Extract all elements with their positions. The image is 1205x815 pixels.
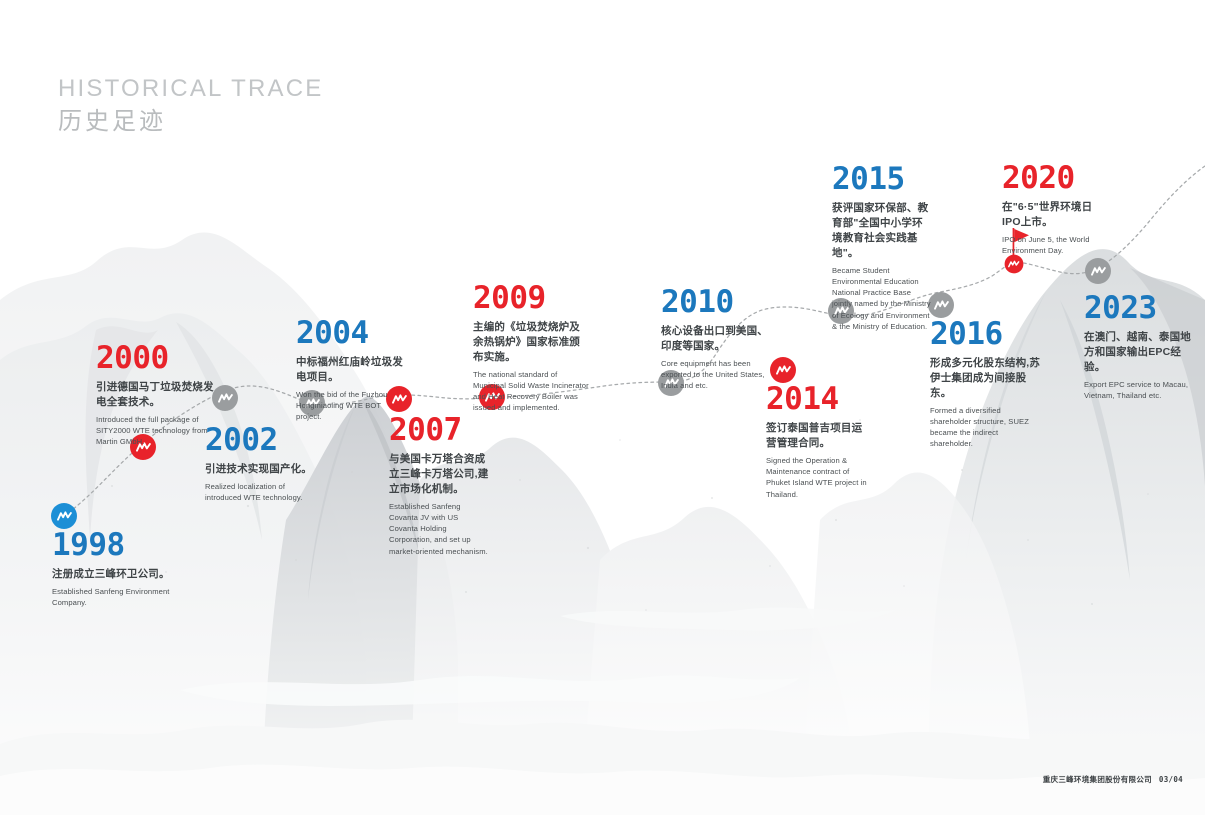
entry-desc-cn: 在"6·5"世界环境日IPO上市。 [1002, 200, 1102, 230]
entry-desc-en: The national standard of Municipal Solid… [473, 369, 589, 414]
entry-year: 2015 [832, 164, 932, 195]
entry-desc-en: Introduced the full package of SITY2000 … [96, 414, 214, 448]
entry-desc-cn: 核心设备出口到美国、印度等国家。 [661, 324, 769, 354]
timeline-entry-2002[interactable]: 2002 引进技术实现国产化。 Realized localization of… [205, 425, 323, 503]
page-footer: 重庆三峰环境集团股份有限公司 03/04 [1043, 774, 1183, 785]
entry-desc-cn: 与美国卡万塔合资成立三峰卡万塔公司,建立市场化机制。 [389, 452, 489, 497]
entry-year: 2014 [766, 384, 870, 415]
timeline-entry-2016[interactable]: 2016 形成多元化股东结构,苏伊士集团成为间接股东。 Formed a div… [930, 319, 1042, 450]
entry-year: 2020 [1002, 163, 1102, 194]
entry-year: 2004 [296, 318, 406, 349]
entry-year: 2009 [473, 283, 589, 314]
entry-desc-en: Signed the Operation & Maintenance contr… [766, 455, 870, 500]
footer-company-name: 重庆三峰环境集团股份有限公司 [1043, 774, 1152, 785]
footer-page-number: 03/04 [1159, 775, 1183, 784]
entry-desc-en: Formed a diversified shareholder structu… [930, 405, 1042, 450]
entry-year: 2016 [930, 319, 1042, 350]
timeline-entry-2007[interactable]: 2007 与美国卡万塔合资成立三峰卡万塔公司,建立市场化机制。 Establis… [389, 415, 489, 557]
timeline-entry-2020[interactable]: 2020 在"6·5"世界环境日IPO上市。 IPO on June 5, th… [1002, 163, 1102, 256]
entry-desc-cn: 注册成立三峰环卫公司。 [52, 567, 172, 582]
entry-desc-en: Realized localization of introduced WTE … [205, 481, 323, 503]
mountain-logo-icon [218, 393, 233, 403]
entry-desc-en: Became Student Environmental Education N… [832, 265, 932, 332]
entry-desc-en: Export EPC service to Macau, Vietnam, Th… [1084, 379, 1196, 401]
timeline-entry-2015[interactable]: 2015 获评国家环保部、教育部"全国中小学环境教育社会实践基地"。 Becam… [832, 164, 932, 332]
timeline-marker-2002[interactable] [212, 385, 238, 411]
entry-desc-cn: 主编的《垃圾焚烧炉及余热锅炉》国家标准颁布实施。 [473, 320, 589, 365]
entry-year: 2023 [1084, 293, 1196, 324]
entry-desc-cn: 引进技术实现国产化。 [205, 462, 323, 477]
entry-desc-cn: 在澳门、越南、泰国地方和国家输出EPC经验。 [1084, 330, 1196, 375]
timeline-entry-2009[interactable]: 2009 主编的《垃圾焚烧炉及余热锅炉》国家标准颁布实施。 The nation… [473, 283, 589, 414]
entry-desc-cn: 签订泰国普吉项目运营管理合同。 [766, 421, 870, 451]
timeline-entry-2010[interactable]: 2010 核心设备出口到美国、印度等国家。 Core equipment has… [661, 287, 769, 392]
timeline-marker-2023[interactable] [1085, 258, 1111, 284]
entry-year: 2010 [661, 287, 769, 318]
mountain-logo-icon [57, 511, 72, 521]
timeline-entry-2023[interactable]: 2023 在澳门、越南、泰国地方和国家输出EPC经验。 Export EPC s… [1084, 293, 1196, 401]
entry-year: 1998 [52, 530, 172, 561]
entry-desc-en: Core equipment has been exported to the … [661, 358, 769, 392]
entry-year: 2002 [205, 425, 323, 456]
entry-desc-en: Established Sanfeng Environment Company. [52, 586, 172, 608]
entry-desc-en: IPO on June 5, the World Environment Day… [1002, 234, 1102, 256]
mountain-logo-icon [934, 300, 949, 310]
timeline-entry-2000[interactable]: 2000 引进德国马丁垃圾焚烧发电全套技术。 Introduced the fu… [96, 343, 214, 448]
entry-desc-cn: 形成多元化股东结构,苏伊士集团成为间接股东。 [930, 356, 1042, 401]
entry-desc-cn: 获评国家环保部、教育部"全国中小学环境教育社会实践基地"。 [832, 201, 932, 261]
timeline-marker-2014[interactable] [770, 357, 796, 383]
entry-desc-en: Established Sanfeng Covanta JV with US C… [389, 501, 489, 557]
mountain-logo-icon [1091, 266, 1106, 276]
entry-desc-cn: 引进德国马丁垃圾焚烧发电全套技术。 [96, 380, 214, 410]
timeline-marker-1998[interactable] [51, 503, 77, 529]
timeline-entry-2004[interactable]: 2004 中标福州红庙岭垃圾发电项目。 Won the bid of the F… [296, 318, 406, 423]
timeline-entry-1998[interactable]: 1998 注册成立三峰环卫公司。 Established Sanfeng Env… [52, 530, 172, 608]
entry-desc-cn: 中标福州红庙岭垃圾发电项目。 [296, 355, 406, 385]
entry-year: 2000 [96, 343, 214, 374]
timeline-entry-2014[interactable]: 2014 签订泰国普吉项目运营管理合同。 Signed the Operatio… [766, 384, 870, 500]
mountain-logo-icon [776, 365, 791, 375]
entry-year: 2007 [389, 415, 489, 446]
